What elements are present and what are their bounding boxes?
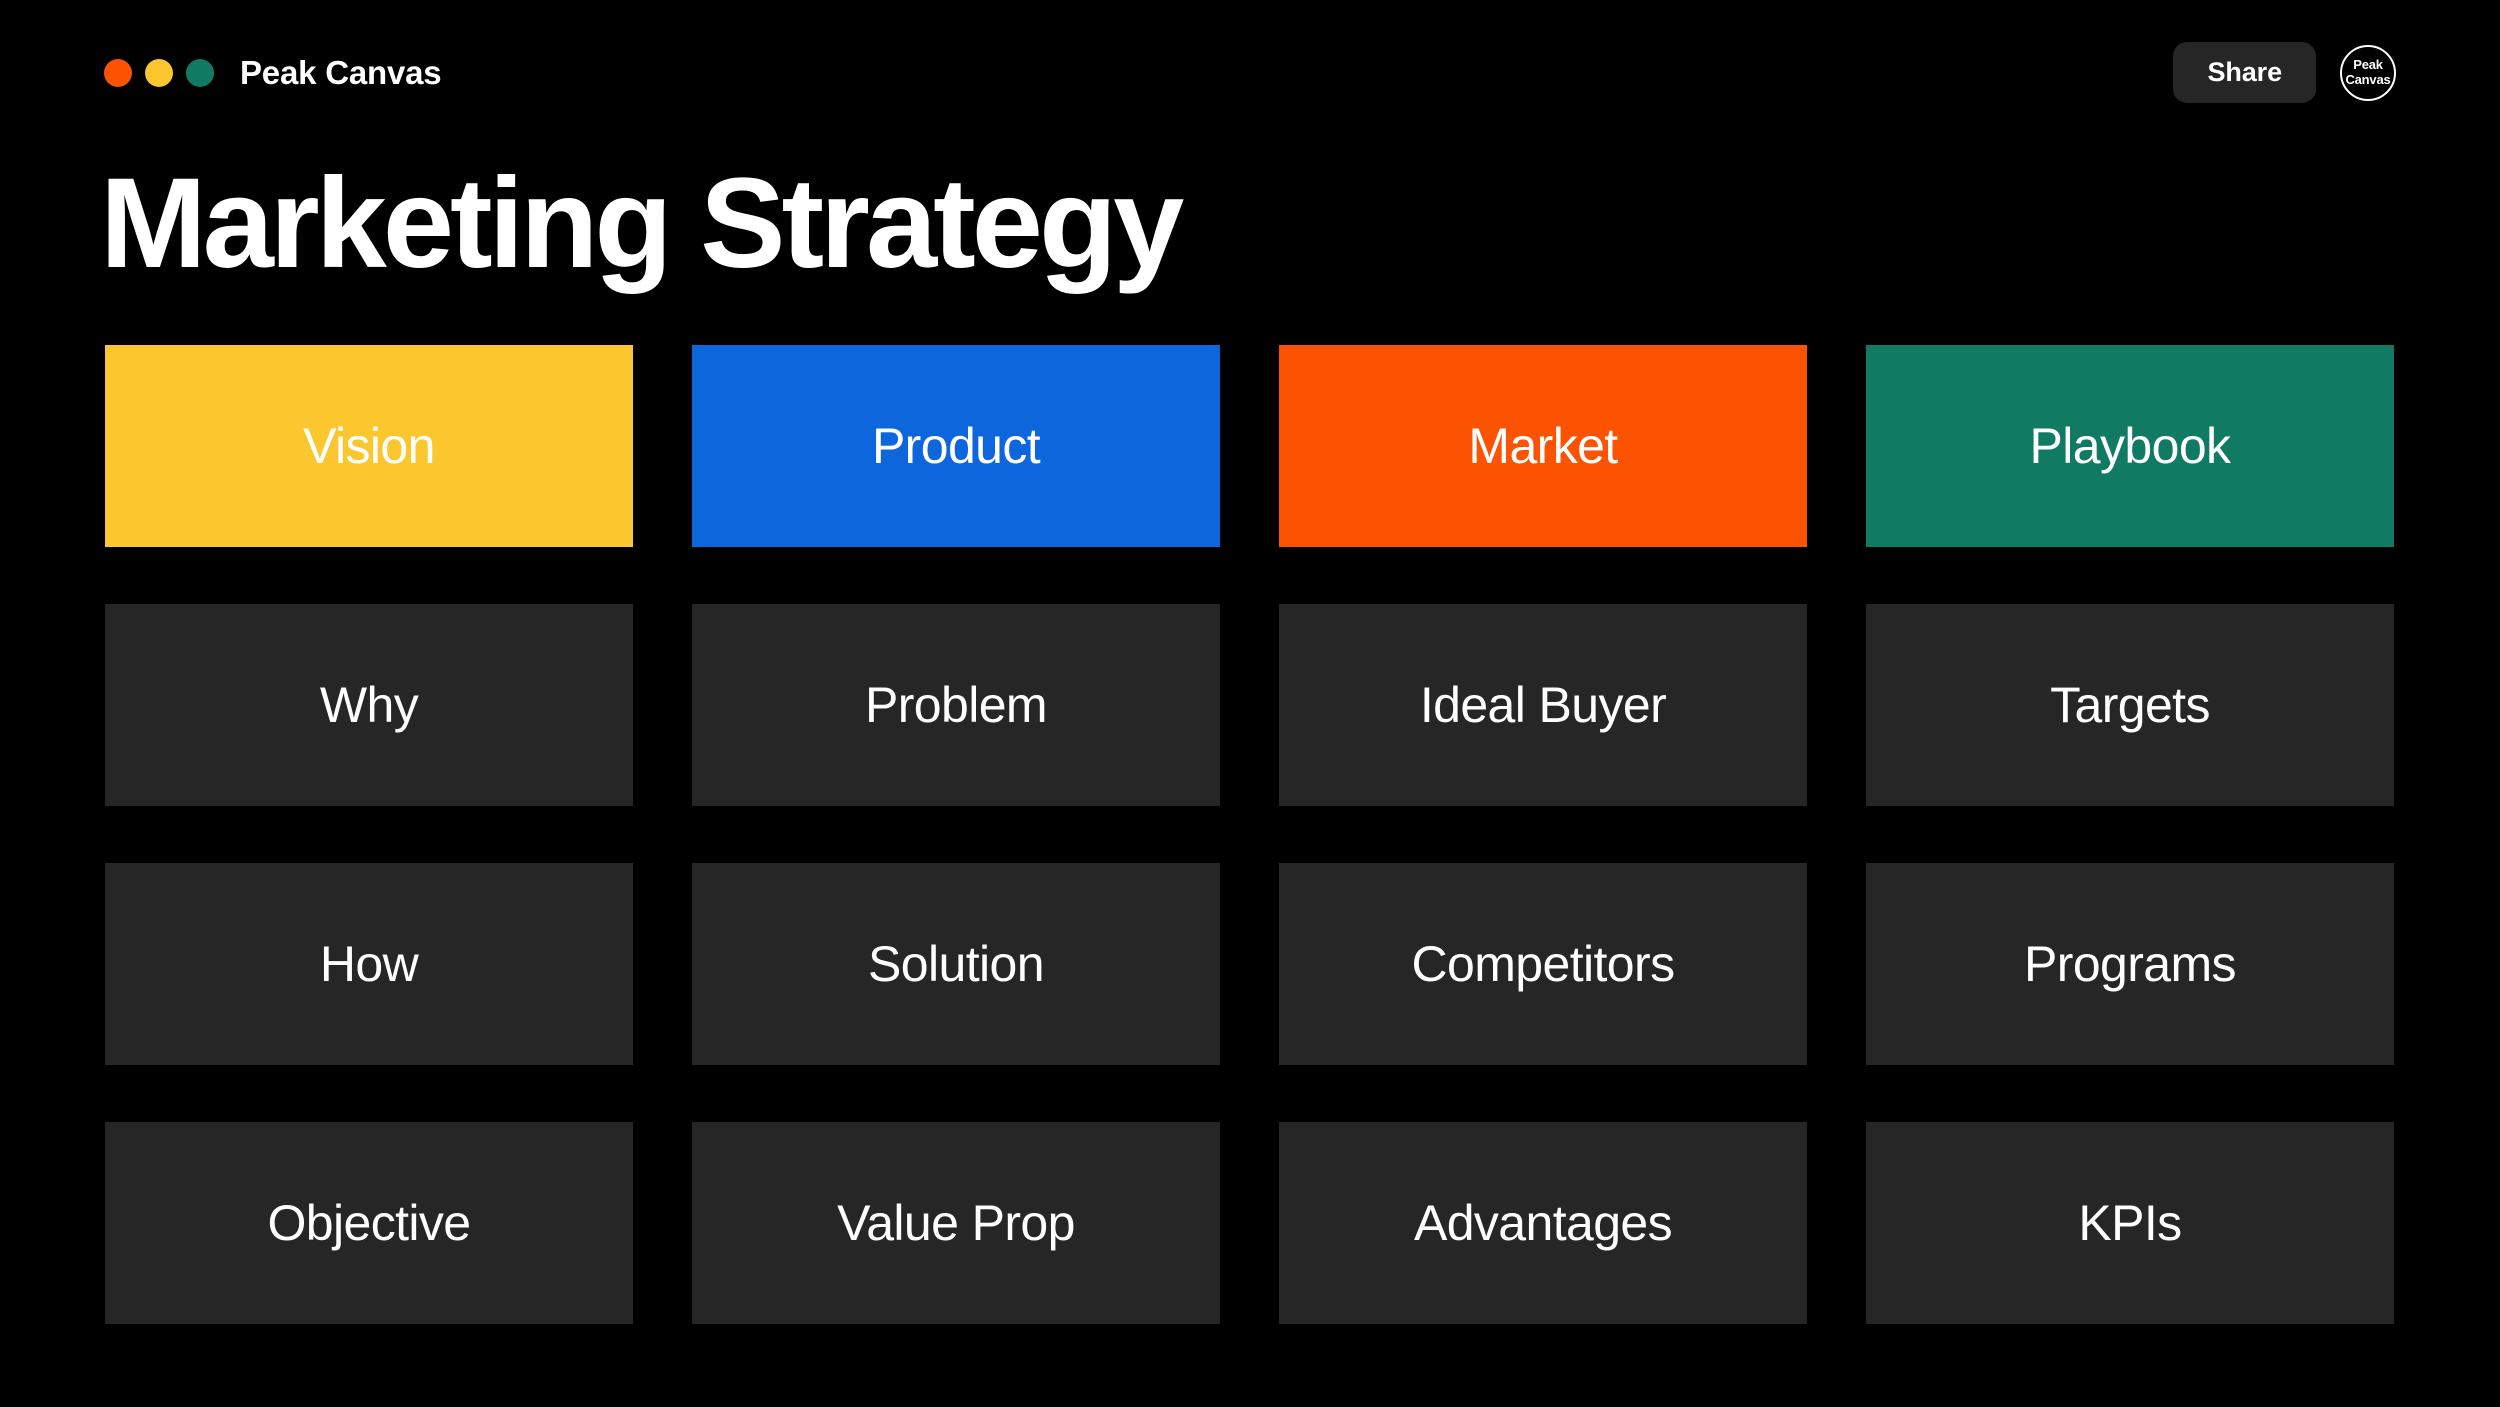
cell-competitors[interactable]: Competitors	[1279, 863, 1807, 1065]
card-label: How	[320, 939, 418, 989]
app-brand: Peak Canvas	[104, 54, 441, 92]
card-label: Why	[320, 680, 418, 730]
share-button[interactable]: Share	[2173, 42, 2316, 103]
top-bar: Peak Canvas Share Peak Canvas	[0, 0, 2500, 145]
maximize-dot[interactable]	[186, 59, 214, 87]
minimize-dot[interactable]	[145, 59, 173, 87]
cell-advantages[interactable]: Advantages	[1279, 1122, 1807, 1324]
page-title: Marketing Strategy	[100, 160, 1180, 288]
card-label: Market	[1468, 421, 1617, 471]
cell-targets[interactable]: Targets	[1866, 604, 2394, 806]
column-header-product[interactable]: Product	[692, 345, 1220, 547]
card-label: Ideal Buyer	[1420, 680, 1666, 730]
cell-how[interactable]: How	[105, 863, 633, 1065]
avatar-line-1: Peak	[2353, 58, 2383, 73]
card-label: KPIs	[2078, 1198, 2181, 1248]
card-label: Programs	[2024, 939, 2236, 989]
window-controls	[104, 59, 214, 87]
column-header-vision[interactable]: Vision	[105, 345, 633, 547]
cell-solution[interactable]: Solution	[692, 863, 1220, 1065]
canvas-grid: Vision Product Market Playbook Why Probl…	[105, 345, 2395, 1324]
close-dot[interactable]	[104, 59, 132, 87]
card-label: Problem	[865, 680, 1047, 730]
card-label: Product	[872, 421, 1040, 471]
cell-objective[interactable]: Objective	[105, 1122, 633, 1324]
column-header-playbook[interactable]: Playbook	[1866, 345, 2394, 547]
avatar-line-2: Canvas	[2345, 73, 2390, 88]
cell-ideal-buyer[interactable]: Ideal Buyer	[1279, 604, 1807, 806]
card-label: Objective	[267, 1198, 470, 1248]
avatar[interactable]: Peak Canvas	[2340, 45, 2396, 101]
top-bar-actions: Share Peak Canvas	[2173, 42, 2396, 103]
card-label: Competitors	[1412, 939, 1675, 989]
card-label: Targets	[2050, 680, 2210, 730]
cell-why[interactable]: Why	[105, 604, 633, 806]
card-label: Value Prop	[837, 1198, 1075, 1248]
app-name: Peak Canvas	[240, 54, 441, 92]
cell-kpis[interactable]: KPIs	[1866, 1122, 2394, 1324]
cell-problem[interactable]: Problem	[692, 604, 1220, 806]
card-label: Solution	[868, 939, 1044, 989]
column-header-market[interactable]: Market	[1279, 345, 1807, 547]
card-label: Playbook	[2030, 421, 2231, 471]
card-label: Vision	[303, 421, 435, 471]
card-label: Advantages	[1414, 1198, 1672, 1248]
cell-value-prop[interactable]: Value Prop	[692, 1122, 1220, 1324]
cell-programs[interactable]: Programs	[1866, 863, 2394, 1065]
